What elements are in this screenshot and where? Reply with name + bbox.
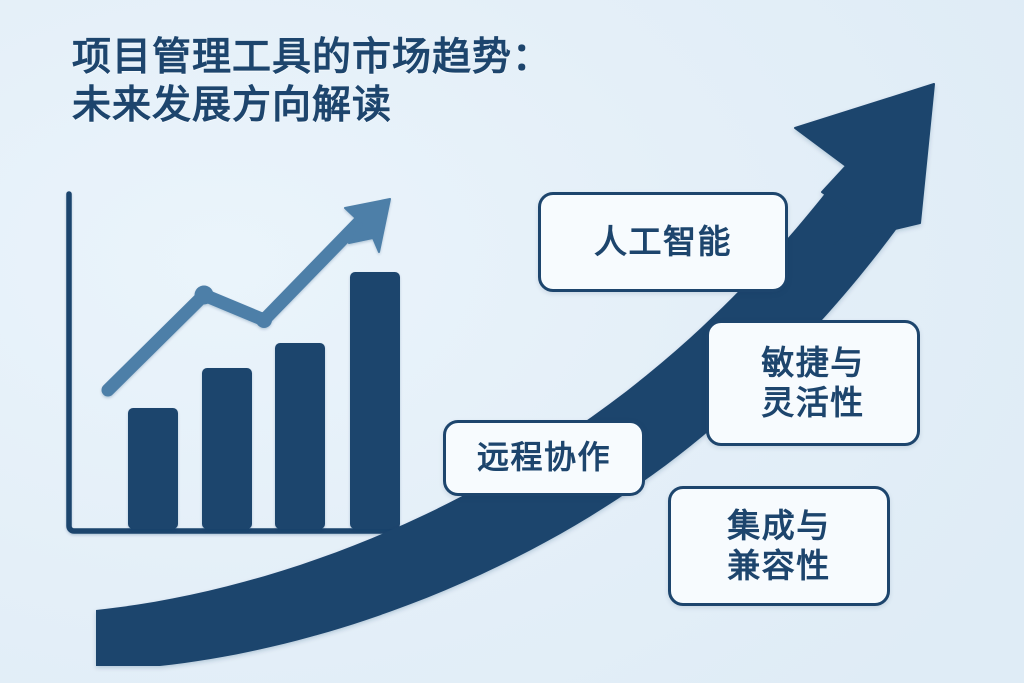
label-card-remote[interactable]: 远程协作: [443, 420, 645, 496]
bar-1: [128, 408, 178, 529]
bar-3: [275, 343, 325, 529]
infographic-canvas: 项目管理工具的市场趋势： 未来发展方向解读 人工智能 敏捷与 灵活性 集成与 兼…: [0, 0, 1024, 683]
bar-4: [350, 272, 400, 529]
trend-line: [108, 199, 390, 390]
label-card-remote-line-1: 远程协作: [477, 438, 611, 477]
page-title: 项目管理工具的市场趋势： 未来发展方向解读: [72, 34, 552, 129]
bar-series: [128, 272, 400, 529]
label-card-agile[interactable]: 敏捷与 灵活性: [706, 320, 920, 446]
label-card-integration[interactable]: 集成与 兼容性: [668, 486, 890, 606]
bar-2: [202, 368, 252, 529]
title-line-2: 未来发展方向解读: [72, 82, 552, 130]
label-card-integration-line-2: 兼容性: [727, 546, 831, 586]
label-card-agile-line-1: 敏捷与: [761, 343, 865, 383]
trend-vertex-2: [256, 312, 272, 328]
trend-vertex-1: [195, 286, 214, 305]
label-card-integration-line-1: 集成与: [727, 506, 831, 546]
label-card-ai-line-1: 人工智能: [594, 222, 732, 262]
label-card-ai[interactable]: 人工智能: [538, 192, 788, 292]
label-card-agile-line-2: 灵活性: [761, 383, 865, 423]
title-line-1: 项目管理工具的市场趋势：: [72, 34, 552, 82]
